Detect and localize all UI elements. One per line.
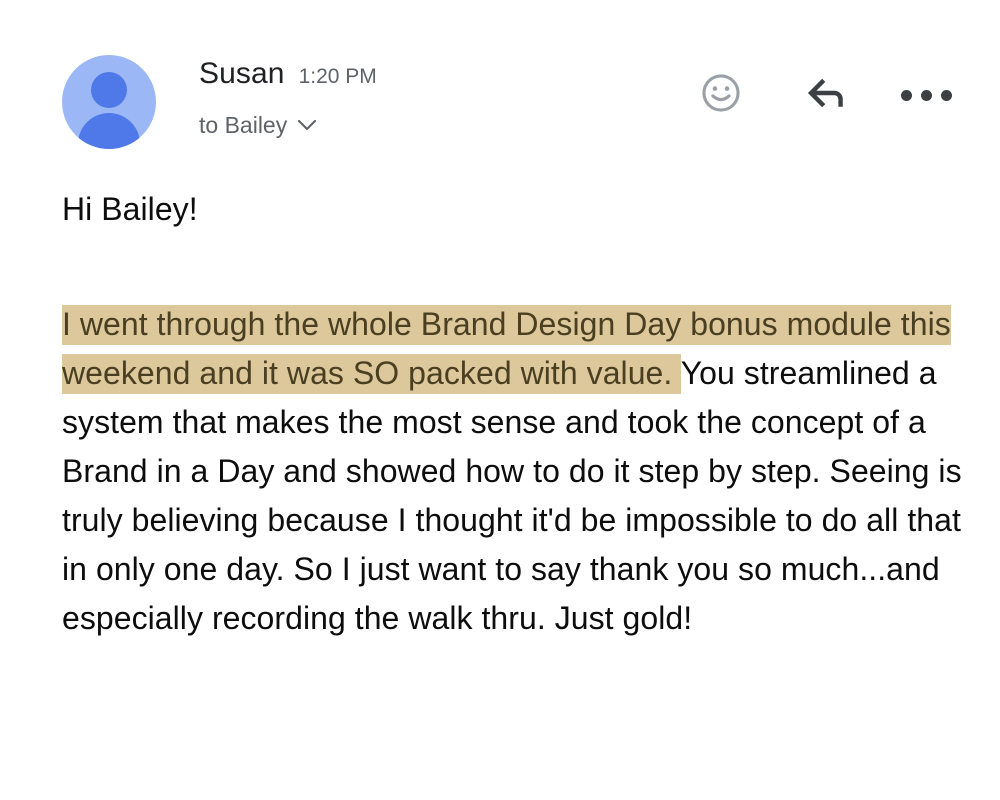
add-reaction-button[interactable] — [690, 64, 752, 126]
avatar[interactable] — [62, 55, 156, 149]
body-text-rest: You streamlined a system that makes the … — [62, 355, 962, 636]
sender-line: Susan 1:20 PM — [199, 57, 377, 97]
sender-name[interactable]: Susan — [199, 57, 285, 91]
person-avatar-icon-head — [91, 72, 127, 108]
reply-button[interactable] — [795, 64, 857, 126]
reply-arrow-icon — [803, 70, 849, 121]
paragraph-spacer — [62, 234, 992, 300]
sender-info: Susan 1:20 PM to Bailey — [199, 57, 377, 139]
message-body: Hi Bailey! I went through the whole Bran… — [62, 185, 992, 643]
message-header: Susan 1:20 PM to Bailey — [0, 0, 1000, 175]
recipient-toggle[interactable]: to Bailey — [199, 112, 377, 139]
person-avatar-icon-body — [78, 113, 140, 149]
more-options-icon — [901, 90, 952, 101]
more-options-button[interactable] — [895, 64, 957, 126]
body-paragraph: I went through the whole Brand Design Da… — [62, 300, 992, 643]
email-message-view: Susan 1:20 PM to Bailey — [0, 0, 1000, 800]
greeting-line: Hi Bailey! — [62, 185, 992, 234]
message-timestamp: 1:20 PM — [299, 65, 377, 89]
add-reaction-icon — [699, 71, 743, 120]
recipient-label: to Bailey — [199, 112, 287, 139]
chevron-down-icon — [297, 119, 317, 132]
message-actions — [690, 64, 980, 126]
